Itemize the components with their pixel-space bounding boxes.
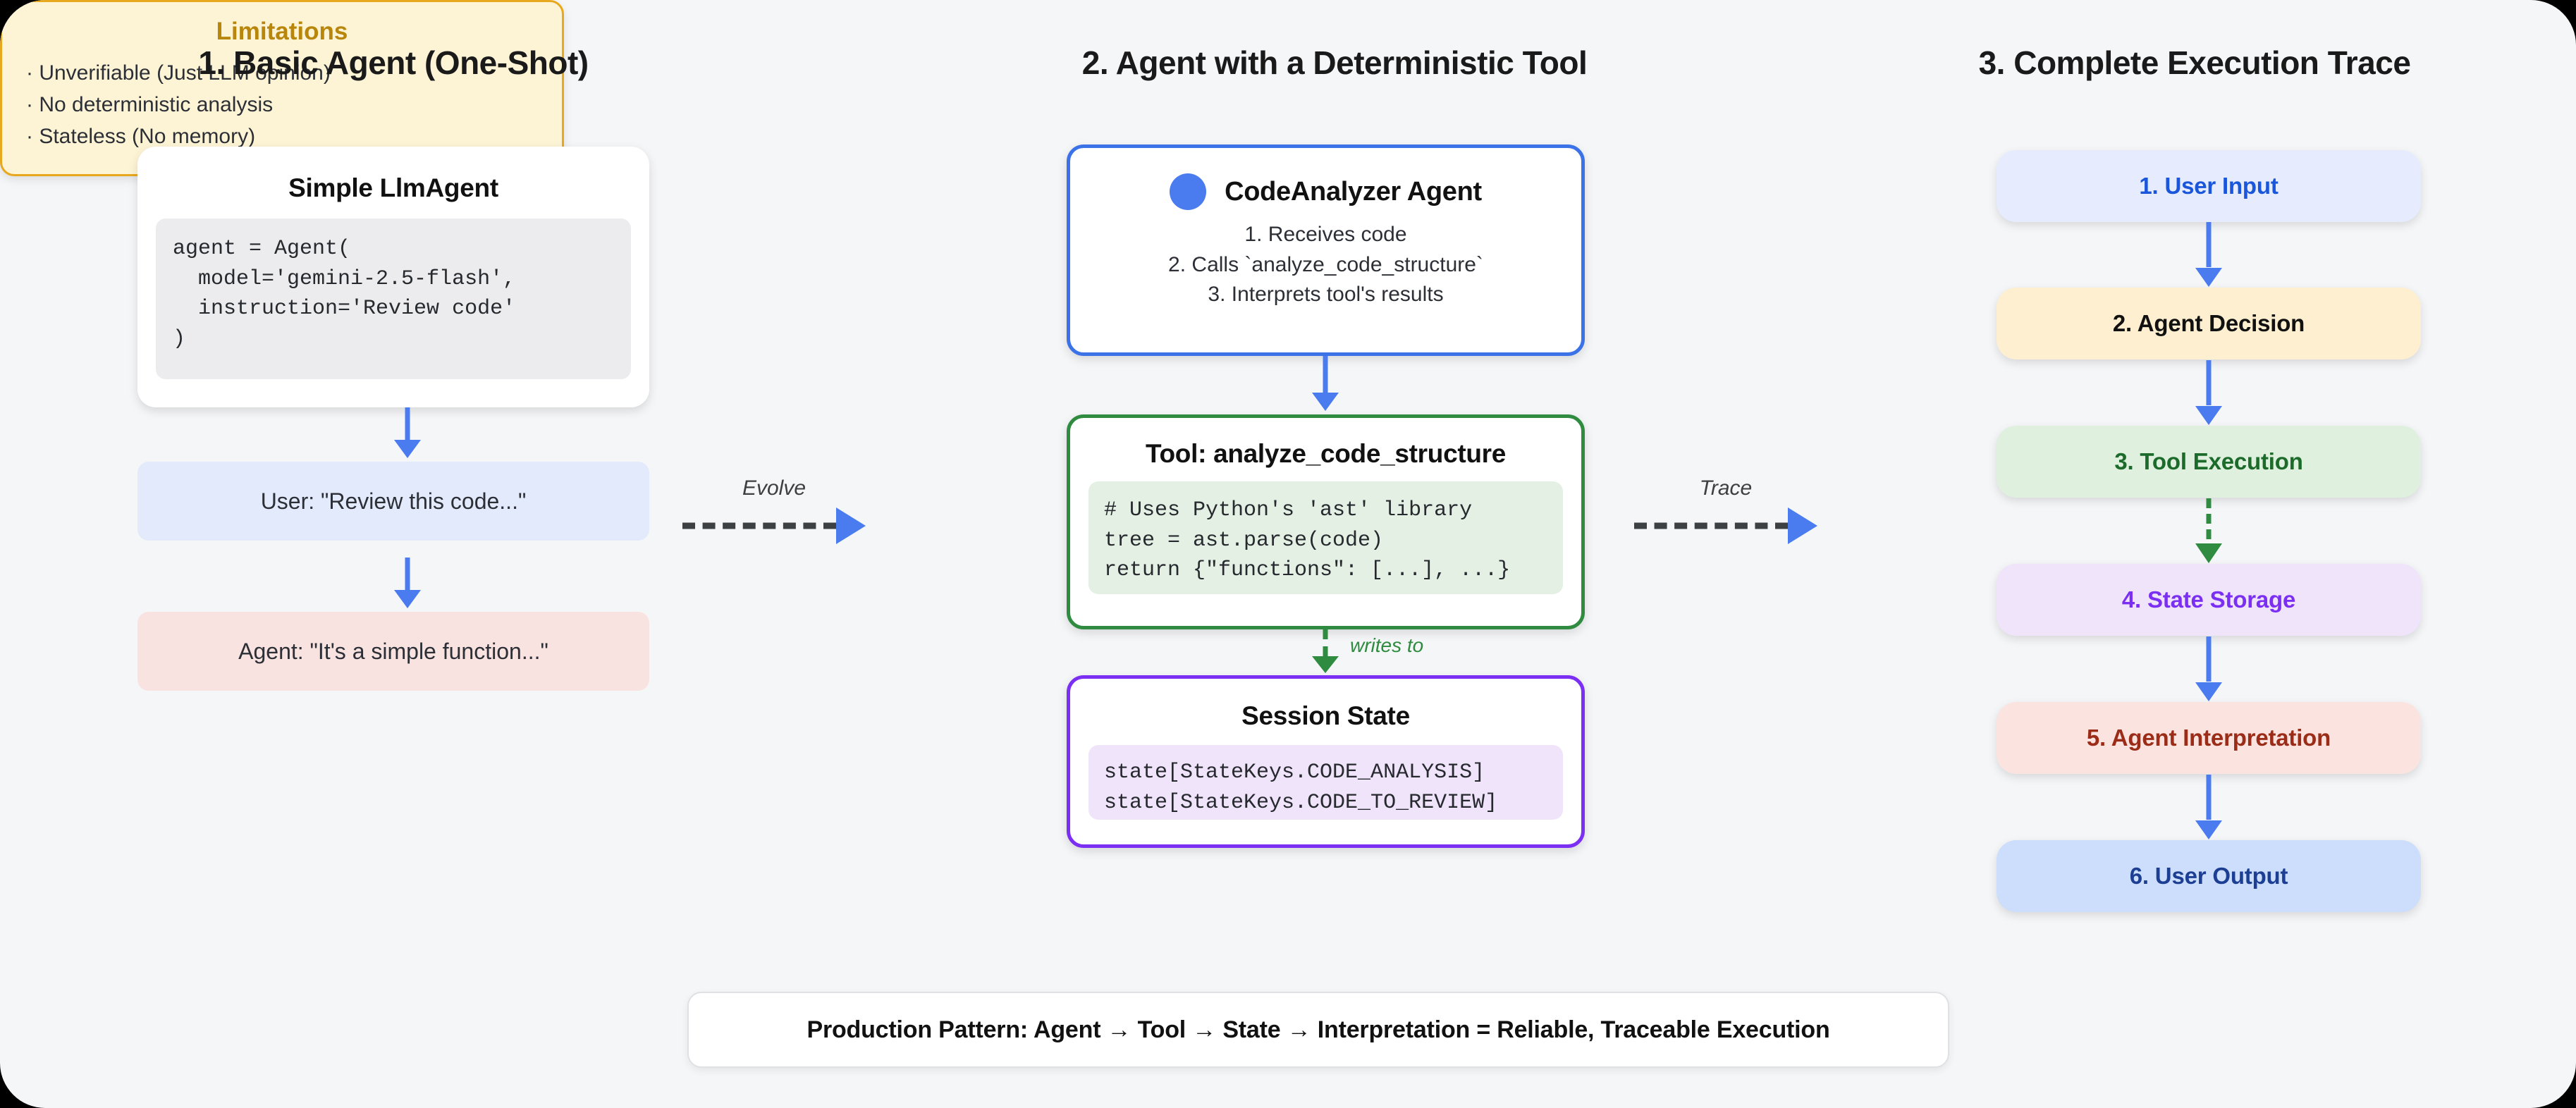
code-analyzer-step: 3. Interprets tool's results [1090, 280, 1562, 310]
trace-step-state-storage: 4. State Storage [1997, 564, 2421, 636]
trace-step-user-input: 1. User Input [1997, 150, 2421, 222]
code-analyzer-step: 2. Calls `analyze_code_structure` [1090, 250, 1562, 281]
trace-step-label: 1. User Input [2139, 173, 2278, 199]
trace-step-agent-decision: 2. Agent Decision [1997, 288, 2421, 359]
tool-card-code: # Uses Python's 'ast' library tree = ast… [1088, 481, 1563, 594]
arrow-trace-4-5 [2195, 636, 2223, 701]
simple-llm-agent-card: Simple LlmAgent agent = Agent( model='ge… [137, 147, 649, 407]
trace-step-user-output: 6. User Output [1997, 840, 2421, 912]
tool-card: Tool: analyze_code_structure # Uses Pyth… [1067, 414, 1585, 629]
column-title-agent-with-tool: 2. Agent with a Deterministic Tool [1067, 44, 1602, 82]
arrow-trace-1-2 [2195, 222, 2223, 287]
trace-step-tool-execution: 3. Tool Execution [1997, 426, 2421, 498]
trace-step-label: 3. Tool Execution [2114, 448, 2302, 475]
code-analyzer-agent-card: CodeAnalyzer Agent 1. Receives code 2. C… [1067, 144, 1585, 356]
simple-llm-agent-title: Simple LlmAgent [156, 173, 631, 203]
connector-trace: Trace [1634, 507, 1817, 544]
trace-step-label: 5. Agent Interpretation [2087, 725, 2331, 751]
user-message-text: User: "Review this code..." [261, 488, 527, 515]
production-pattern-text: Production Pattern: Agent → Tool → State… [806, 1016, 1829, 1044]
trace-step-label: 6. User Output [2130, 863, 2288, 890]
limitations-title: Limitations [26, 18, 538, 46]
arrow-trace-2-3 [2195, 360, 2223, 425]
arrow-trace-3-4 [2195, 498, 2223, 563]
session-state-title: Session State [1088, 701, 1563, 731]
session-state-code: state[StateKeys.CODE_ANALYSIS] state[Sta… [1088, 745, 1563, 820]
connector-trace-arrowhead [1788, 507, 1817, 544]
column-title-basic-agent: 1. Basic Agent (One-Shot) [137, 44, 649, 82]
arrow-tool-to-session-state [1311, 629, 1339, 673]
arrow-trace-5-6 [2195, 775, 2223, 839]
session-state-card: Session State state[StateKeys.CODE_ANALY… [1067, 675, 1585, 848]
connector-trace-label: Trace [1700, 476, 1752, 500]
code-analyzer-step: 1. Receives code [1090, 220, 1562, 250]
code-analyzer-header: CodeAnalyzer Agent [1090, 173, 1562, 210]
diagram-canvas: 1. Basic Agent (One-Shot) 2. Agent with … [0, 0, 2576, 1108]
user-message-bubble: User: "Review this code..." [137, 462, 649, 541]
arrow-user-to-agent-reply [393, 558, 422, 608]
code-analyzer-steps: 1. Receives code 2. Calls `analyze_code_… [1090, 220, 1562, 310]
tool-card-title: Tool: analyze_code_structure [1088, 439, 1563, 469]
agent-message-bubble: Agent: "It's a simple function..." [137, 612, 649, 691]
agent-message-text: Agent: "It's a simple function..." [238, 639, 548, 665]
production-pattern-banner: Production Pattern: Agent → Tool → State… [687, 992, 1949, 1068]
arrow-agent-to-user [393, 407, 422, 458]
trace-step-agent-interpretation: 5. Agent Interpretation [1997, 702, 2421, 774]
column-title-execution-trace: 3. Complete Execution Trace [1967, 44, 2422, 82]
simple-llm-agent-code: agent = Agent( model='gemini-2.5-flash',… [156, 218, 631, 379]
code-analyzer-title: CodeAnalyzer Agent [1225, 177, 1482, 207]
connector-evolve-arrowhead [836, 507, 866, 544]
trace-step-label: 4. State Storage [2122, 586, 2295, 613]
limitations-item: No deterministic analysis [26, 89, 538, 121]
connector-evolve: Evolve [682, 507, 866, 544]
writes-to-label: writes to [1350, 634, 1423, 657]
arrow-agent-to-tool [1311, 356, 1339, 411]
agent-dot-icon [1170, 173, 1206, 210]
trace-step-label: 2. Agent Decision [2113, 310, 2305, 337]
connector-evolve-label: Evolve [742, 476, 806, 500]
